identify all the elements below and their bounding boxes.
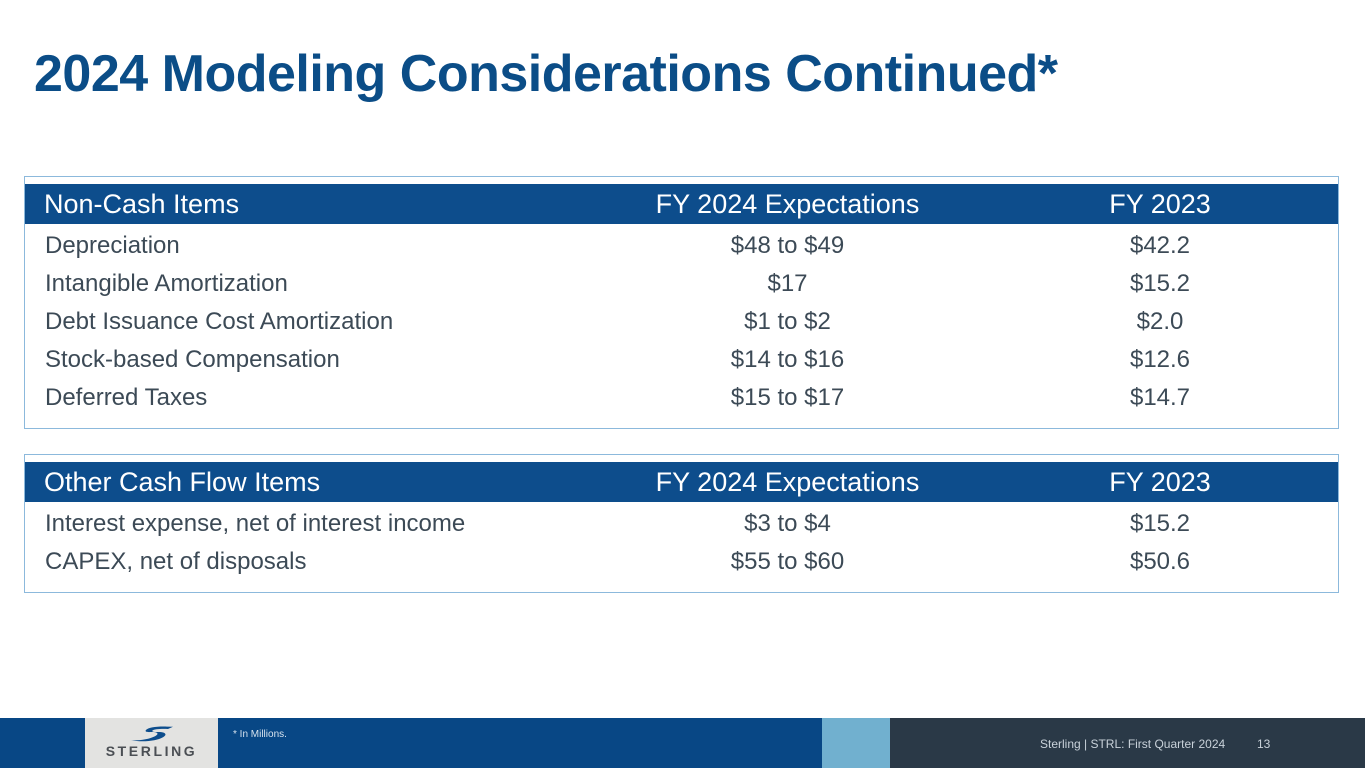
cell-item: Interest expense, net of interest income — [25, 510, 585, 538]
table-row: CAPEX, net of disposals $55 to $60 $50.6 — [25, 543, 1338, 581]
cell-expectations: $14 to $16 — [585, 346, 990, 374]
column-header-prior-year: FY 2023 — [990, 189, 1330, 220]
table-body: Depreciation $48 to $49 $42.2 Intangible… — [25, 224, 1338, 428]
cell-prior-year: $14.7 — [990, 384, 1330, 412]
cell-prior-year: $50.6 — [990, 548, 1330, 576]
cell-prior-year: $2.0 — [990, 308, 1330, 336]
cell-expectations: $15 to $17 — [585, 384, 990, 412]
page-number: 13 — [1257, 737, 1270, 751]
table-body: Interest expense, net of interest income… — [25, 502, 1338, 592]
table-row: Debt Issuance Cost Amortization $1 to $2… — [25, 303, 1338, 341]
cell-item: CAPEX, net of disposals — [25, 548, 585, 576]
cell-item: Depreciation — [25, 232, 585, 260]
logo-wordmark: STERLING — [85, 743, 218, 759]
table-header-row: Non-Cash Items FY 2024 Expectations FY 2… — [25, 184, 1338, 224]
column-header-expectations: FY 2024 Expectations — [585, 467, 990, 498]
footnote: * In Millions. — [233, 729, 287, 740]
cell-prior-year: $15.2 — [990, 510, 1330, 538]
table-other-cash-flow-items: Other Cash Flow Items FY 2024 Expectatio… — [24, 454, 1339, 593]
cell-prior-year: $42.2 — [990, 232, 1330, 260]
cell-item: Intangible Amortization — [25, 270, 585, 298]
cell-item: Deferred Taxes — [25, 384, 585, 412]
column-header-prior-year: FY 2023 — [990, 467, 1330, 498]
cell-prior-year: $12.6 — [990, 346, 1330, 374]
footer-accent-band — [822, 718, 890, 768]
page-title: 2024 Modeling Considerations Continued* — [34, 44, 1058, 104]
column-header-item: Other Cash Flow Items — [25, 467, 585, 498]
cell-expectations: $55 to $60 — [585, 548, 990, 576]
table-non-cash-items: Non-Cash Items FY 2024 Expectations FY 2… — [24, 176, 1339, 429]
table-top-gap — [25, 455, 1338, 462]
table-row: Interest expense, net of interest income… — [25, 505, 1338, 543]
column-header-item: Non-Cash Items — [25, 189, 585, 220]
cell-expectations: $1 to $2 — [585, 308, 990, 336]
cell-expectations: $3 to $4 — [585, 510, 990, 538]
cell-expectations: $48 to $49 — [585, 232, 990, 260]
cell-expectations: $17 — [585, 270, 990, 298]
footer-caption: Sterling | STRL: First Quarter 2024 — [1040, 737, 1225, 751]
table-row: Stock-based Compensation $14 to $16 $12.… — [25, 341, 1338, 379]
cell-prior-year: $15.2 — [990, 270, 1330, 298]
table-row: Depreciation $48 to $49 $42.2 — [25, 227, 1338, 265]
table-row: Intangible Amortization $17 $15.2 — [25, 265, 1338, 303]
table-top-gap — [25, 177, 1338, 184]
cell-item: Stock-based Compensation — [25, 346, 585, 374]
cell-item: Debt Issuance Cost Amortization — [25, 308, 585, 336]
table-header-row: Other Cash Flow Items FY 2024 Expectatio… — [25, 462, 1338, 502]
sterling-swoosh-icon — [127, 725, 177, 742]
column-header-expectations: FY 2024 Expectations — [585, 189, 990, 220]
logo: STERLING — [85, 718, 218, 768]
table-row: Deferred Taxes $15 to $17 $14.7 — [25, 379, 1338, 417]
